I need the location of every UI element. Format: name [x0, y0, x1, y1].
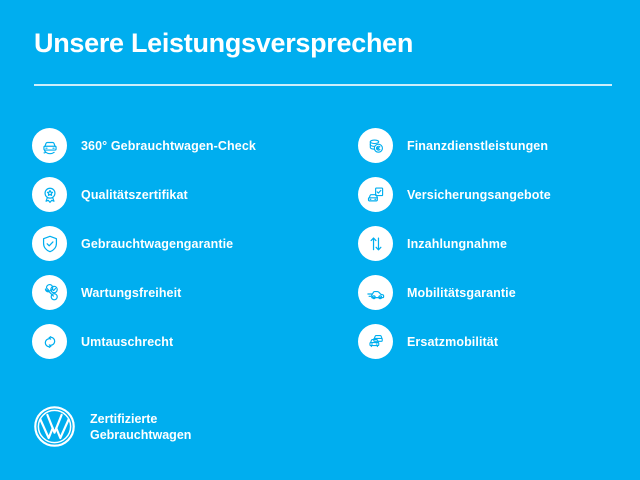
features-right-column: Finanzdienstleistungen Versicherungsange… — [330, 121, 640, 366]
feature-item[interactable]: Inzahlungnahme — [358, 219, 640, 268]
page-title: Unsere Leistungsversprechen — [34, 28, 413, 59]
feature-label: Versicherungsangebote — [407, 188, 551, 202]
feature-label: Finanzdienstleistungen — [407, 139, 548, 153]
feature-item[interactable]: 360° Gebrauchtwagen-Check — [32, 121, 330, 170]
quality-seal-icon — [32, 177, 67, 212]
footer-brand: Zertifizierte Gebrauchtwagen — [32, 404, 191, 449]
wrench-check-icon — [32, 275, 67, 310]
feature-item[interactable]: Umtauschrecht — [32, 317, 330, 366]
feature-label: Wartungsfreiheit — [81, 286, 181, 300]
shield-check-icon — [32, 226, 67, 261]
title-divider — [34, 84, 612, 86]
feature-item[interactable]: Wartungsfreiheit — [32, 268, 330, 317]
footer-text: Zertifizierte Gebrauchtwagen — [90, 411, 191, 443]
feature-label: 360° Gebrauchtwagen-Check — [81, 139, 256, 153]
feature-label: Umtauschrecht — [81, 335, 173, 349]
feature-item[interactable]: Qualitätszertifikat — [32, 170, 330, 219]
car-arrow-icon — [358, 275, 393, 310]
car-document-icon — [358, 177, 393, 212]
footer-line-1: Zertifizierte — [90, 411, 191, 427]
two-cars-icon — [358, 324, 393, 359]
feature-item[interactable]: Gebrauchtwagengarantie — [32, 219, 330, 268]
volkswagen-logo — [32, 404, 77, 449]
feature-label: Ersatzmobilität — [407, 335, 498, 349]
up-down-arrows-icon — [358, 226, 393, 261]
feature-item[interactable]: Ersatzmobilität — [358, 317, 640, 366]
promise-poster: Unsere Leistungsversprechen 360° Gebrauc… — [0, 0, 640, 480]
car-360-check-icon — [32, 128, 67, 163]
coins-euro-icon — [358, 128, 393, 163]
feature-label: Inzahlungnahme — [407, 237, 507, 251]
exchange-arrows-icon — [32, 324, 67, 359]
feature-label: Gebrauchtwagengarantie — [81, 237, 233, 251]
feature-item[interactable]: Versicherungsangebote — [358, 170, 640, 219]
feature-item[interactable]: Mobilitätsgarantie — [358, 268, 640, 317]
feature-label: Qualitätszertifikat — [81, 188, 188, 202]
footer-line-2: Gebrauchtwagen — [90, 427, 191, 443]
features-left-column: 360° Gebrauchtwagen-Check Qualitätszerti… — [0, 121, 330, 366]
feature-item[interactable]: Finanzdienstleistungen — [358, 121, 640, 170]
features-container: 360° Gebrauchtwagen-Check Qualitätszerti… — [0, 121, 640, 366]
feature-label: Mobilitätsgarantie — [407, 286, 516, 300]
